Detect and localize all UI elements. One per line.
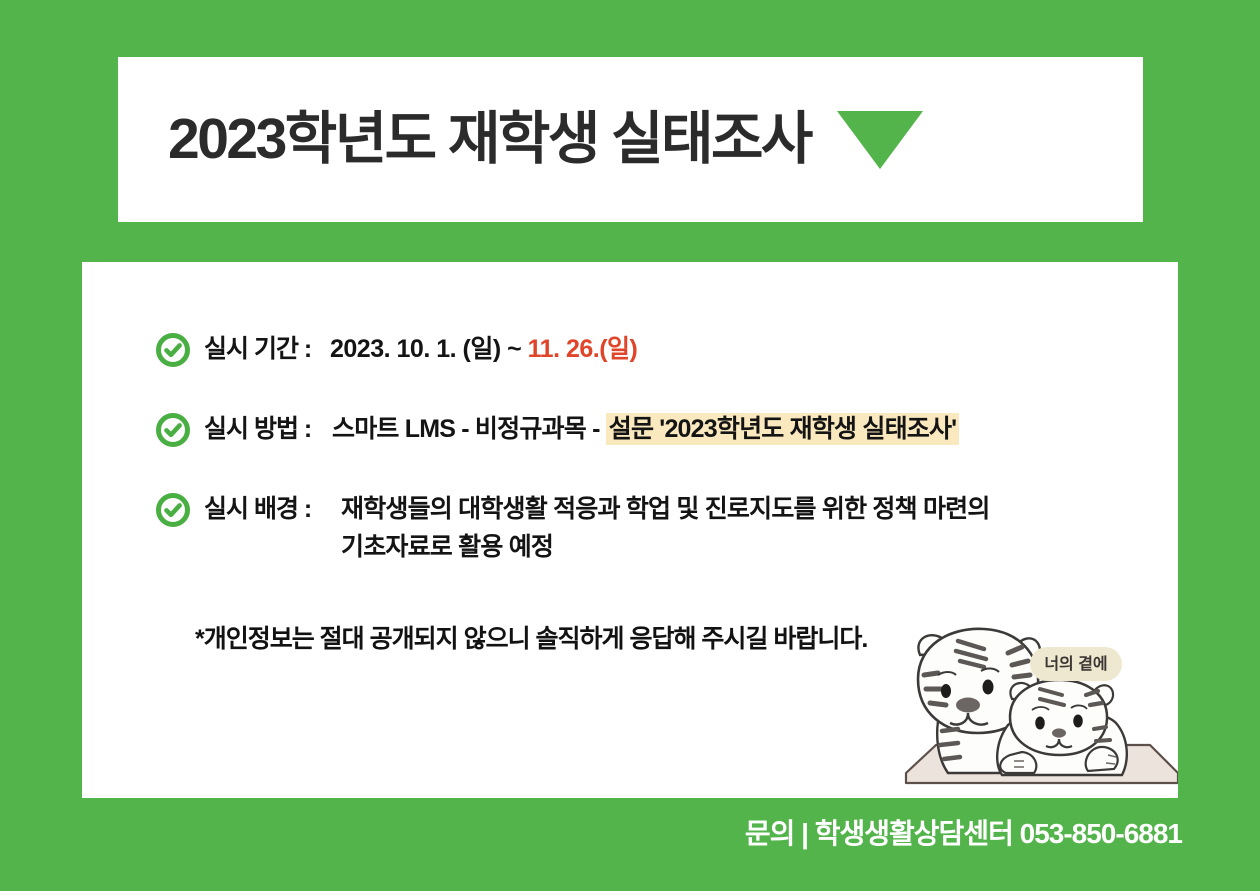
triangle-down-icon <box>837 111 923 169</box>
info-row-method-label: 실시 방법 : <box>204 410 332 448</box>
check-circle-icon <box>155 412 191 448</box>
privacy-note: *개인정보는 절대 공개되지 않으니 솔직하게 응답해 주시길 바랍니다. <box>195 622 1158 656</box>
cub-eye-right <box>1073 715 1083 728</box>
info-row-background-label: 실시 배경 : <box>204 490 341 528</box>
page-title: 2023학년도 재학생 실태조사 <box>168 111 811 168</box>
method-survey-name-highlight: 설문 '2023학년도 재학생 실태조사' <box>606 413 960 445</box>
info-row-period-value: 2023. 10. 1. (일) ~ 11. 26.(일) <box>330 330 637 368</box>
info-row-background: 실시 배경 : 재학생들의 대학생활 적응과 학업 및 진로지도를 위한 정책 … <box>155 490 1158 566</box>
tiger-nose-big <box>956 698 980 713</box>
method-path-text: 스마트 LMS - 비정규과목 - <box>332 415 606 443</box>
tiger-eye-left <box>941 684 951 698</box>
info-row-method: 실시 방법 : 스마트 LMS - 비정규과목 - 설문 '2023학년도 재학… <box>155 410 1158 448</box>
tiger-eye-right <box>983 680 994 695</box>
info-row-period-label: 실시 기간 : <box>204 330 330 368</box>
cub-paw-right <box>1086 747 1118 771</box>
info-row-period: 실시 기간 : 2023. 10. 1. (일) ~ 11. 26.(일) <box>155 330 1158 368</box>
cub-nose <box>1052 728 1066 737</box>
background-text-line2: 기초자료로 활용 예정 <box>341 528 990 566</box>
title-card: 2023학년도 재학생 실태조사 <box>118 57 1143 222</box>
info-row-method-value: 스마트 LMS - 비정규과목 - 설문 '2023학년도 재학생 실태조사' <box>332 410 959 448</box>
info-row-background-value: 재학생들의 대학생활 적응과 학업 및 진로지도를 위한 정책 마련의 기초자료… <box>341 490 990 566</box>
main-content-card: 실시 기간 : 2023. 10. 1. (일) ~ 11. 26.(일) 실시… <box>82 262 1178 798</box>
info-rows: 실시 기간 : 2023. 10. 1. (일) ~ 11. 26.(일) 실시… <box>155 330 1158 656</box>
period-end-text: 11. 26.(일) <box>528 335 638 363</box>
contact-footer: 문의 | 학생생활상담센터 053-850-6881 <box>745 812 1182 852</box>
check-circle-icon <box>155 332 191 368</box>
background-text-line1: 재학생들의 대학생활 적응과 학업 및 진로지도를 위한 정책 마련의 <box>341 490 990 528</box>
speech-bubble-text: 너의 곁에 <box>1044 655 1107 673</box>
check-circle-icon <box>155 492 191 528</box>
period-start-text: 2023. 10. 1. (일) ~ <box>330 335 528 363</box>
cub-eye-left <box>1035 717 1045 730</box>
